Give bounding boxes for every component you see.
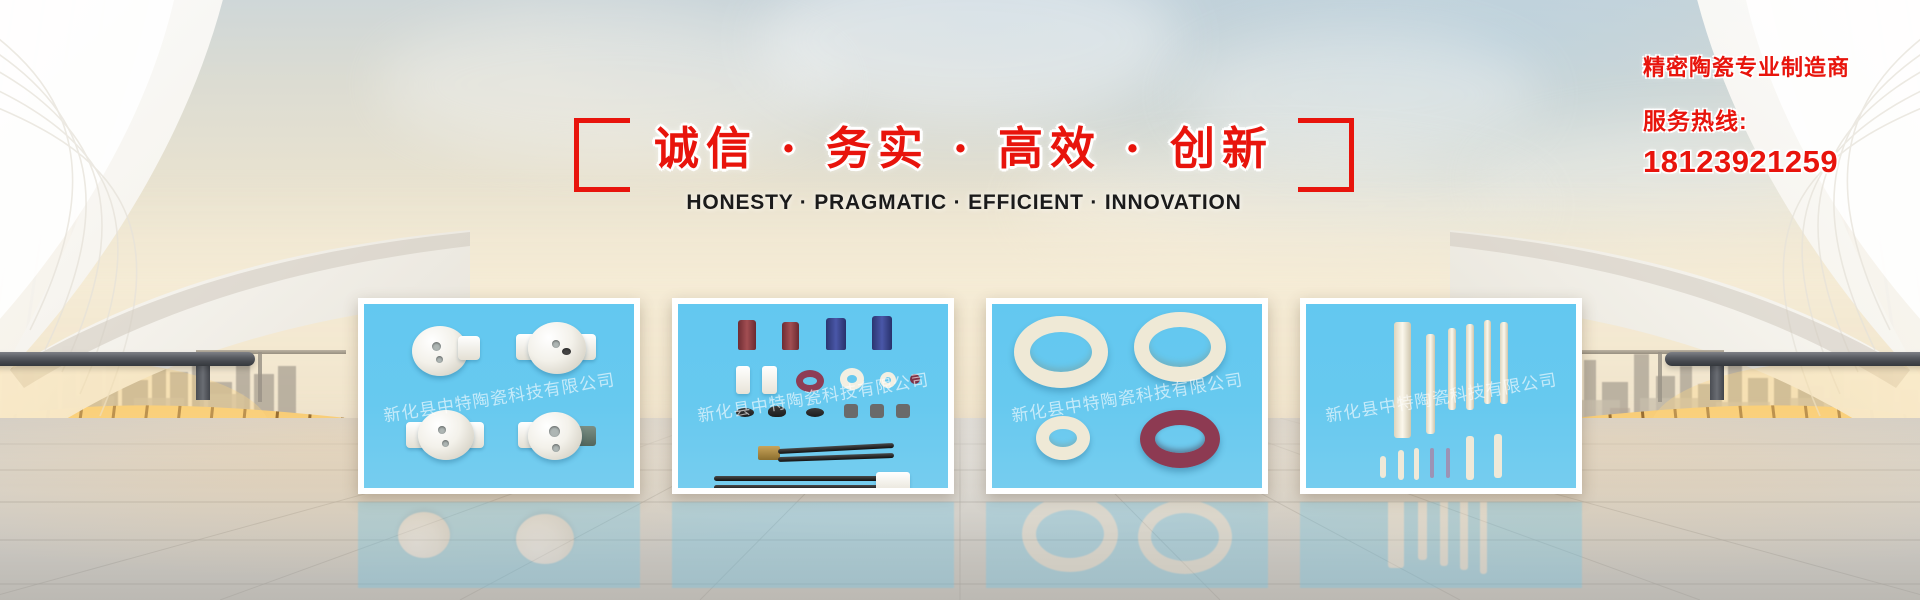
panel-reflection [1300, 502, 1582, 588]
product-item [778, 453, 894, 462]
railing-left [0, 352, 255, 366]
product-detail [442, 440, 449, 447]
product-panel-ceramic-connectors[interactable]: 新化县中特陶瓷科技有限公司 [672, 298, 954, 494]
product-item [738, 320, 756, 350]
panel-reflections [358, 502, 1582, 588]
product-item [880, 372, 896, 388]
product-item [418, 410, 474, 460]
product-detail [562, 348, 571, 355]
product-item [1430, 448, 1434, 478]
product-item [528, 322, 586, 374]
handrail-post-left [258, 352, 262, 402]
product-item [768, 406, 786, 417]
hotline-number[interactable]: 18123921259 [1643, 144, 1850, 180]
product-item [1500, 322, 1508, 404]
product-item [1140, 410, 1220, 468]
product-item [826, 318, 846, 350]
product-item [736, 366, 750, 394]
product-item [1036, 416, 1090, 460]
product-panel-ceramic-lamp-holders[interactable]: 新化县中特陶瓷科技有限公司 [358, 298, 640, 494]
product-panel-ceramic-rods[interactable]: 新化县中特陶瓷科技有限公司 [1300, 298, 1582, 494]
product-item [844, 404, 858, 418]
product-item [458, 336, 480, 360]
product-item [714, 485, 880, 488]
slogan-english: HONESTY · PRAGMATIC · EFFICIENT · INNOVA… [584, 191, 1344, 215]
product-item [782, 322, 799, 350]
handrail-post-right [1658, 352, 1662, 402]
product-item [796, 370, 824, 392]
product-item [1484, 320, 1491, 404]
product-item [1134, 312, 1226, 382]
panel-reflection [986, 502, 1268, 588]
product-item [840, 368, 864, 390]
product-item [1380, 456, 1386, 478]
product-item [806, 408, 824, 417]
panel-reflection [358, 502, 640, 588]
product-item [1494, 434, 1502, 478]
product-item [758, 446, 780, 460]
product-detail [432, 342, 441, 351]
product-item [872, 316, 892, 350]
product-panel-ceramic-rings[interactable]: 新化县中特陶瓷科技有限公司 [986, 298, 1268, 494]
product-item [1426, 334, 1435, 434]
product-item [876, 472, 910, 488]
product-item [1466, 324, 1474, 410]
product-item [1394, 322, 1411, 438]
product-item [1446, 448, 1450, 478]
railing-right [1665, 352, 1920, 366]
contact-block: 精密陶瓷专业制造商 服务热线: 18123921259 [1643, 50, 1850, 180]
product-item [1448, 328, 1456, 410]
product-detail [549, 426, 560, 437]
product-item [910, 374, 920, 384]
slogan-chinese: 诚信 · 务实 · 高效 · 创新 [584, 124, 1344, 174]
product-item [1398, 450, 1404, 480]
product-item [896, 404, 910, 418]
product-detail [552, 340, 560, 348]
product-panel-row: 新化县中特陶瓷科技有限公司 [358, 298, 1582, 494]
banner-stage: 新化县中特陶瓷科技有限公司 [0, 0, 1920, 600]
product-item [1414, 448, 1419, 480]
panel-watermark: 新化县中特陶瓷科技有限公司 [381, 365, 616, 426]
product-detail [552, 444, 560, 452]
slogan-block: 诚信 · 务实 · 高效 · 创新 HONESTY · PRAGMATIC · … [584, 124, 1344, 215]
railing-post-left [196, 364, 210, 400]
product-item [736, 408, 754, 417]
company-tagline: 精密陶瓷专业制造商 [1643, 50, 1850, 82]
panel-watermark: 新化县中特陶瓷科技有限公司 [1323, 365, 1558, 426]
panel-reflection [672, 502, 954, 588]
railing-post-right [1710, 364, 1724, 400]
product-item [1014, 316, 1108, 388]
product-item [1466, 436, 1474, 480]
product-item [714, 476, 880, 481]
product-detail [438, 426, 446, 434]
product-item [778, 443, 894, 454]
hotline-label: 服务热线: [1643, 102, 1850, 136]
product-detail [436, 356, 443, 363]
product-item [870, 404, 884, 418]
product-item [762, 366, 777, 394]
